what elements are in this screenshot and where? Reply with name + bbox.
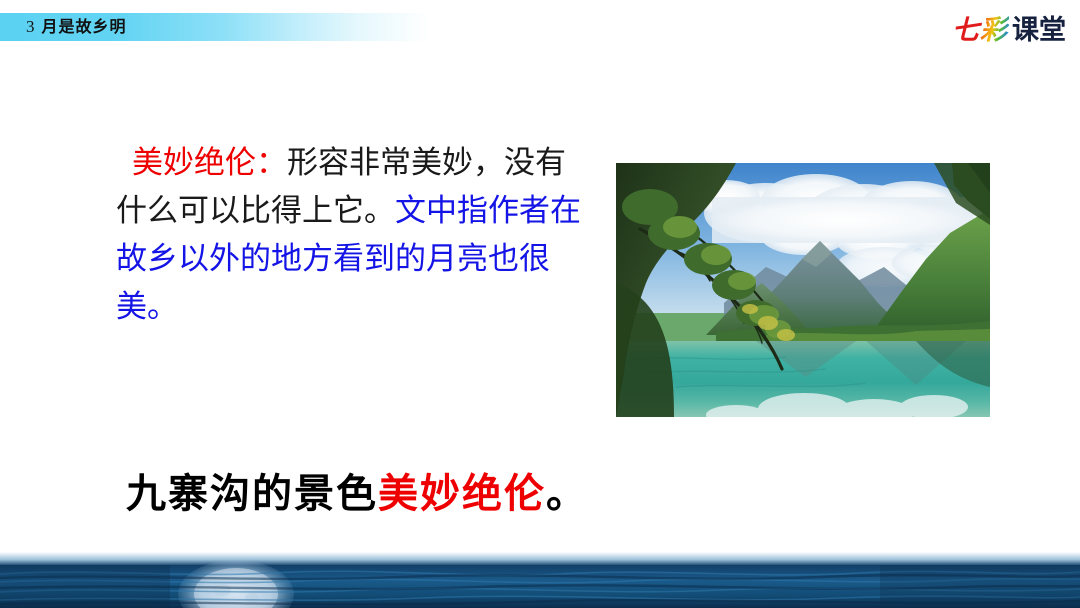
page-title: 3月是故乡明 [26,15,127,40]
jiuzhaigou-lake-photo [616,163,990,417]
example-prefix: 九寨沟的景色 [126,470,378,517]
definition-term: 美妙绝伦： [116,145,287,181]
brand-logo: 七 彩 课堂 [952,12,1066,50]
example-sentence: 九寨沟的景色美妙绝伦。 [126,466,588,522]
definition-paragraph: 美妙绝伦：形容非常美妙，没有什么可以比得上它。文中指作者在故乡以外的地方看到的月… [116,139,586,331]
footer-moon-water-band [0,552,1080,608]
lesson-title: 月是故乡明 [42,19,127,36]
logo-char-cai: 彩 [980,16,1009,46]
example-suffix: 。 [546,470,588,517]
logo-char-qi: 七 [952,16,979,46]
example-highlight: 美妙绝伦 [378,470,546,517]
lesson-number: 3 [26,17,42,36]
logo-char-ketang: 课堂 [1010,16,1066,46]
